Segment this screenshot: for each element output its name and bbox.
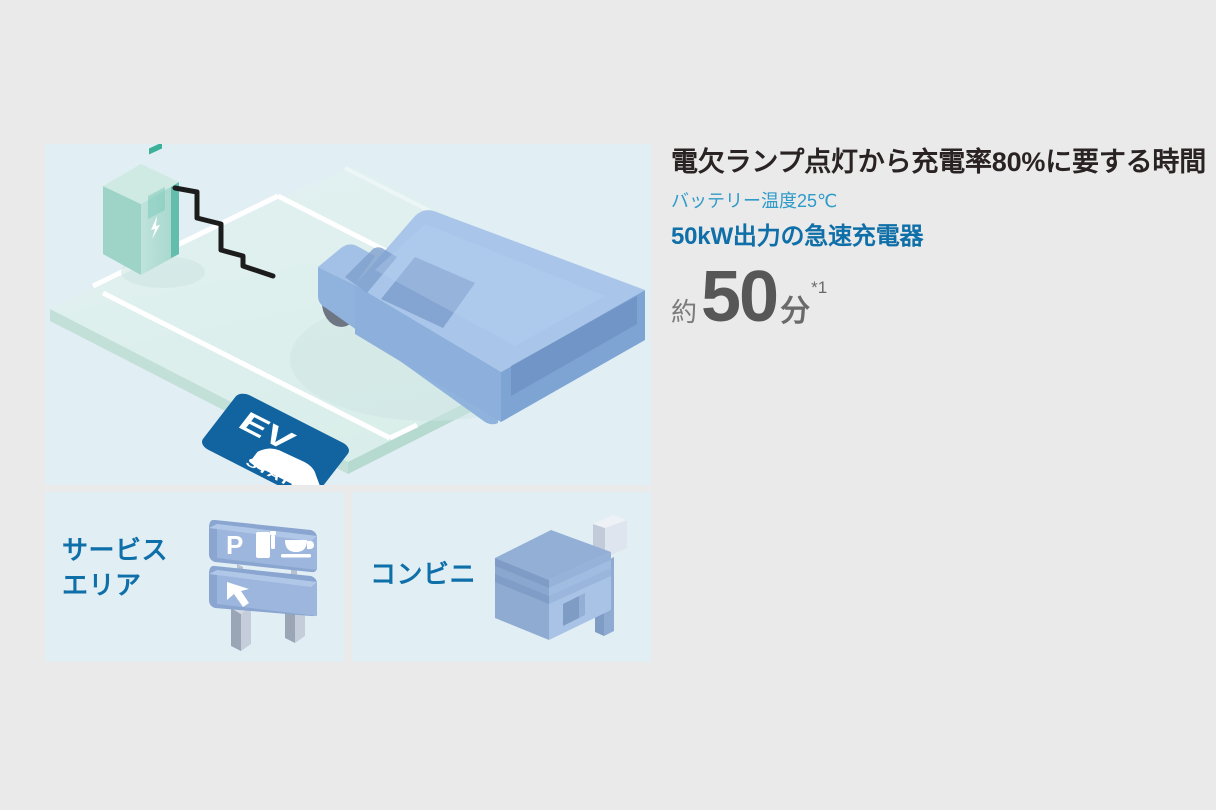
charging-duration: 約 50 分 *1: [671, 261, 1191, 333]
charger-spec-label: 50kW出力の急速充電器: [671, 223, 1191, 252]
page-title: 電欠ランプ点灯から充電率80%に要する時間: [671, 146, 1191, 178]
sign-board-arrow: [209, 566, 317, 616]
convenience-store-icon: [487, 514, 647, 644]
parking-icon: P: [226, 530, 243, 560]
ev-charging-illustration-panel: EV STATION: [45, 144, 651, 485]
ev-charging-scene-svg: EV STATION: [45, 144, 651, 485]
duration-approx-label: 約: [671, 299, 697, 325]
service-area-label-line1: サービス: [62, 533, 168, 568]
convenience-store-panel: コンビニ: [352, 492, 651, 662]
ev-charger-unit: [103, 144, 205, 288]
service-area-label-line2: エリア: [62, 568, 168, 603]
page-root: EV STATION: [0, 0, 1216, 810]
sign-board-amenities: P: [209, 520, 317, 572]
duration-value: 50: [701, 261, 777, 333]
service-area-panel: P サービス エリア: [45, 492, 344, 662]
service-area-label: サービス エリア: [62, 533, 168, 603]
duration-unit: 分: [780, 297, 810, 327]
duration-footnote-marker: *1: [811, 279, 827, 296]
convenience-store-label: コンビニ: [370, 557, 476, 592]
store-building: [495, 530, 611, 640]
battery-temperature-note: バッテリー温度25℃: [671, 191, 1191, 213]
charging-info-column: 電欠ランプ点灯から充電率80%に要する時間 バッテリー温度25℃ 50kW出力の…: [671, 146, 1191, 333]
highway-service-sign-icon: P: [193, 504, 343, 654]
